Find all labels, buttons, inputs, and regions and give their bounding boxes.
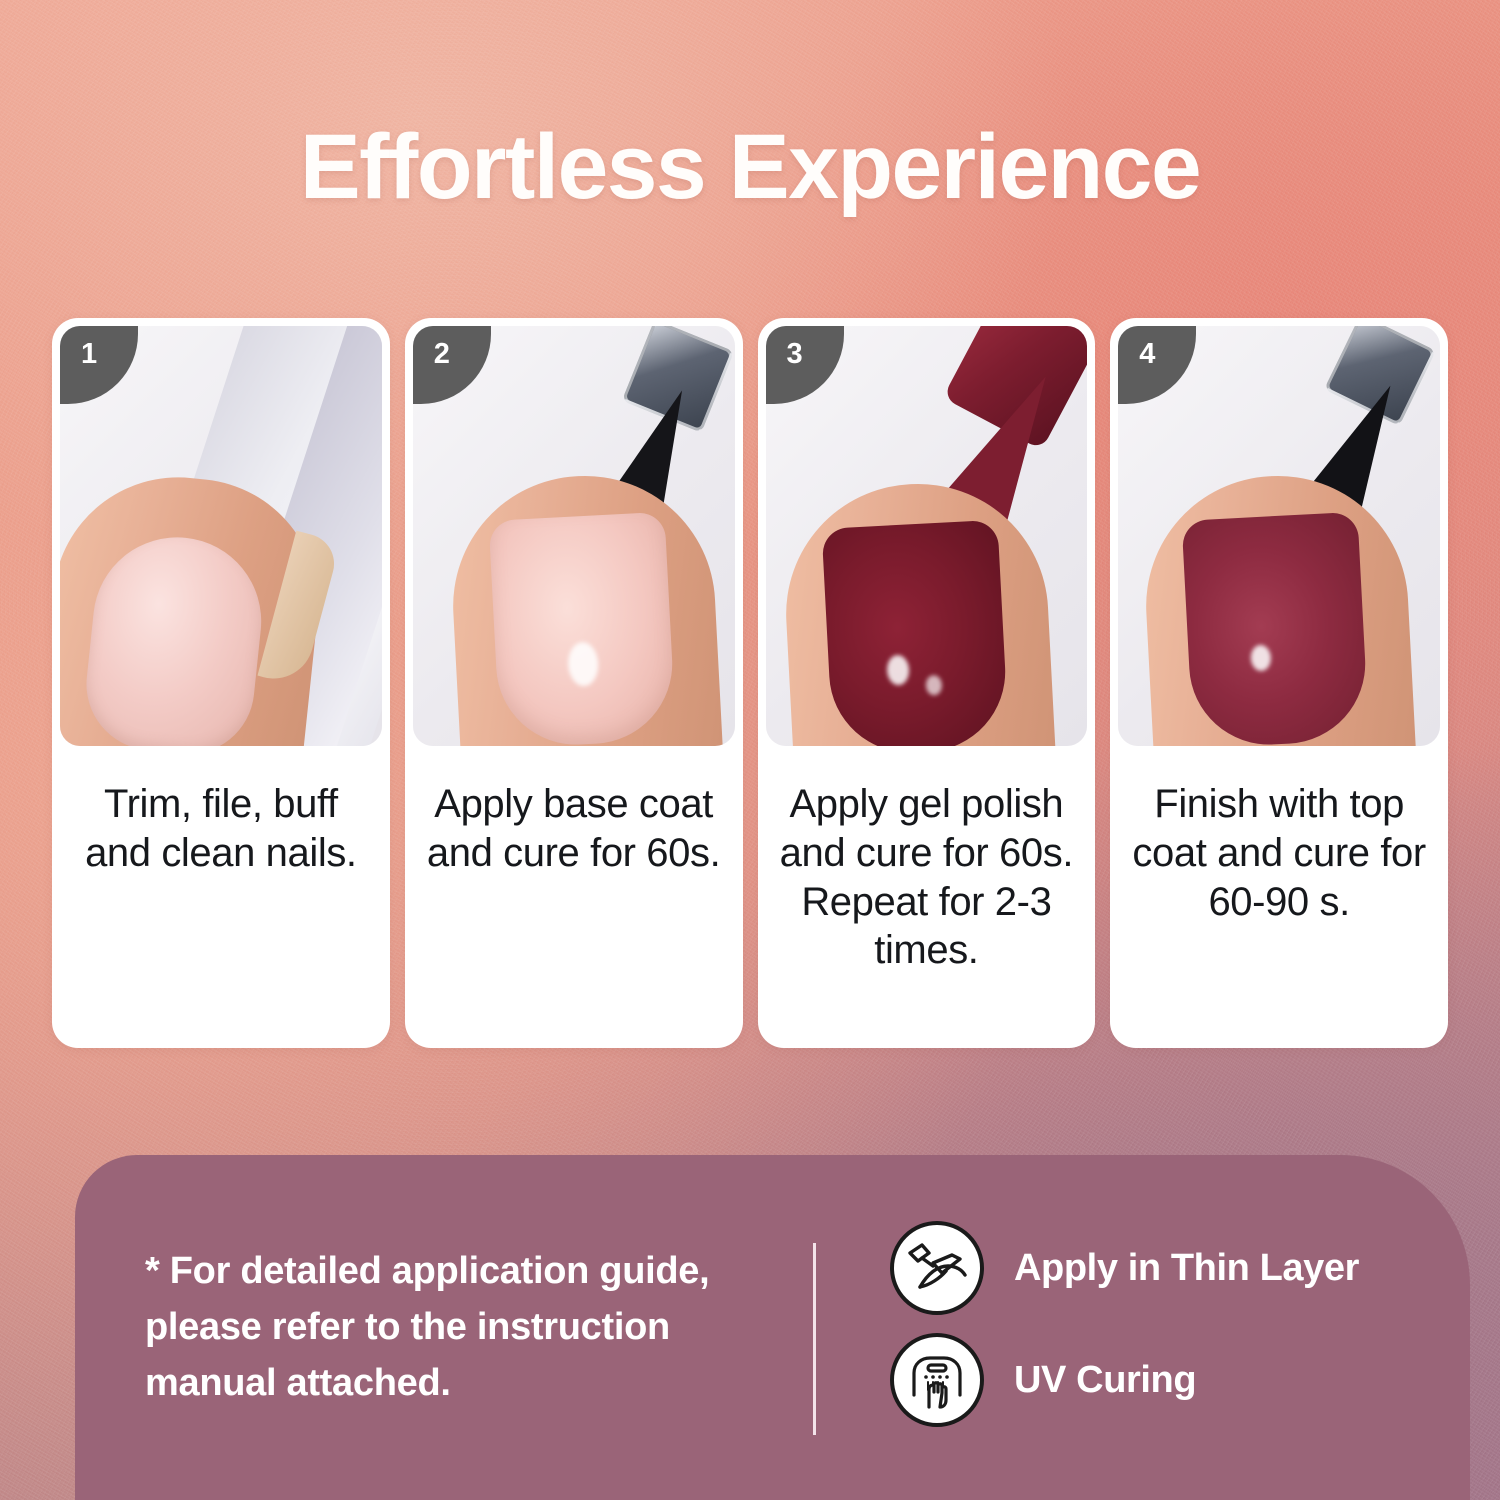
info-banner: * For detailed application guide, please… [75, 1155, 1470, 1500]
uv-lamp-curing-icon [890, 1333, 984, 1427]
step-caption: Apply gel polish and cure for 60s. Repea… [758, 746, 1096, 1048]
step-card-4: 4 Finish with top coat and cure for 60-9… [1110, 318, 1448, 1048]
step-3-photo: 3 [766, 326, 1088, 746]
step-card-2: 2 Apply base coat and cure for 60s. [405, 318, 743, 1048]
step-4-photo: 4 [1118, 326, 1440, 746]
step-number: 1 [81, 338, 97, 371]
step-number: 3 [787, 338, 803, 371]
feature-label: UV Curing [1014, 1359, 1196, 1402]
step-card-3: 3 Apply gel polish and cure for 60s. Rep… [758, 318, 1096, 1048]
page-title: Effortless Experience [8, 115, 1493, 220]
feature-label: Apply in Thin Layer [1014, 1247, 1359, 1290]
step-number: 4 [1139, 338, 1155, 371]
step-caption: Apply base coat and cure for 60s. [405, 746, 743, 1048]
step-card-1: 1 Trim, file, buff and clean nails. [52, 318, 390, 1048]
feature-uv-curing: UV Curing [890, 1333, 1359, 1427]
feature-thin-layer: Apply in Thin Layer [890, 1221, 1359, 1315]
step-2-photo: 2 [413, 326, 735, 746]
step-caption: Trim, file, buff and clean nails. [52, 746, 390, 1048]
steps-row: 1 Trim, file, buff and clean nails. 2 Ap… [52, 318, 1448, 1048]
step-number: 2 [434, 338, 450, 371]
feature-list: Apply in Thin Layer UV Curing [890, 1221, 1359, 1427]
step-1-photo: 1 [60, 326, 382, 746]
step-caption: Finish with top coat and cure for 60-90 … [1110, 746, 1448, 1048]
thin-layer-brush-icon [890, 1221, 984, 1315]
banner-divider [813, 1243, 816, 1435]
footnote-text: * For detailed application guide, please… [145, 1243, 785, 1412]
